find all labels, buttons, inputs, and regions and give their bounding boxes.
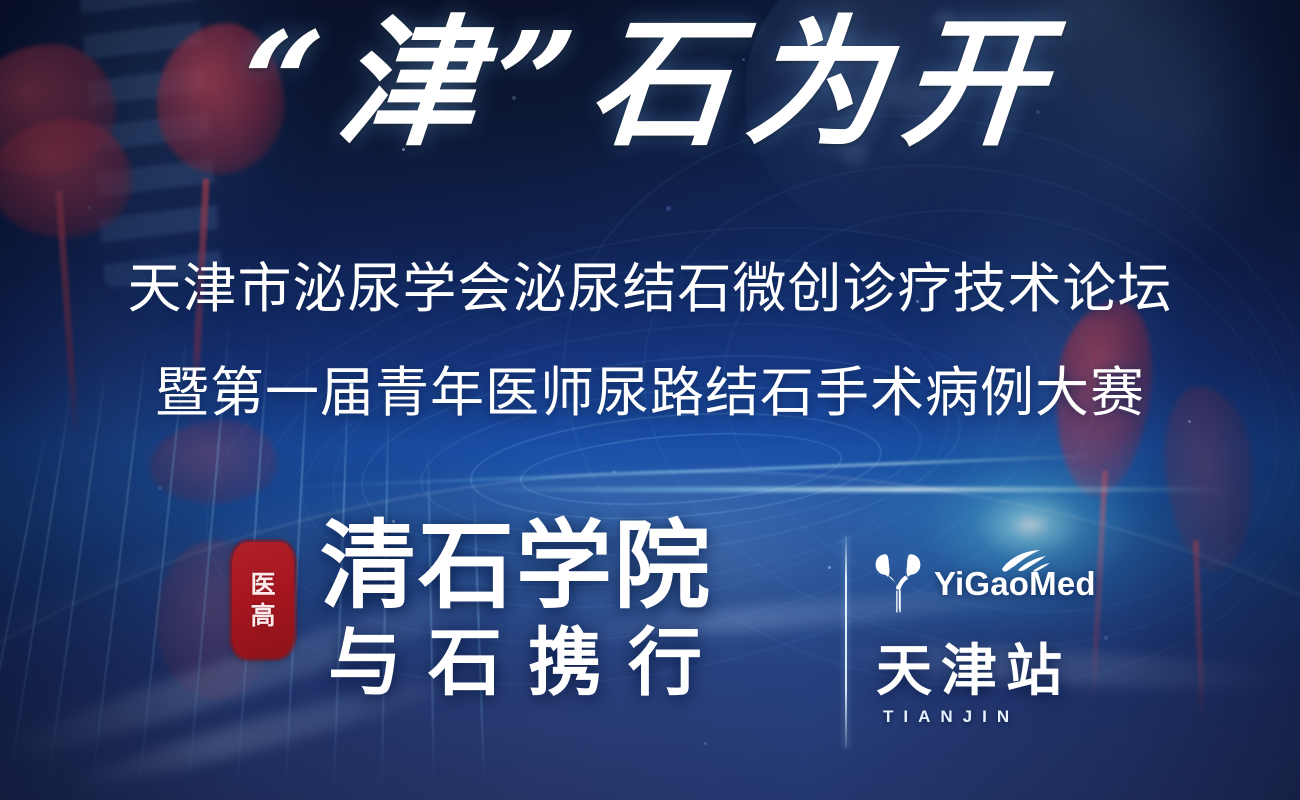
poster-headline: “津”石为开 [0, 14, 1300, 154]
poster-content: “津”石为开 天津市泌尿学会泌尿结石微创诊疗技术论坛 暨第一届青年医师尿路结石手… [0, 0, 1300, 800]
seal-char-bottom: 高 [250, 603, 275, 628]
city-name-cn: 天津站 [876, 642, 1112, 701]
swoosh-icon [1000, 548, 1052, 572]
city-name-en: TIANJIN [883, 707, 1112, 727]
sponsor-and-city-block: YiGaoMed 天津站 TIANJIN [872, 540, 1112, 727]
poster-subtitle-line-1: 天津市泌尿学会泌尿结石微创诊疗技术论坛 [0, 244, 1300, 323]
poster-subtitle-line-2: 暨第一届青年医师尿路结石手术病例大赛 [0, 348, 1300, 427]
seal-char-top: 医 [250, 572, 275, 597]
brand-lockup: 医 高 清石学院 与石携行 [232, 516, 1102, 766]
sponsor-logo: YiGaoMed [872, 540, 1112, 626]
academy-name: 清石学院 [320, 516, 840, 618]
red-seal-stamp: 医 高 [232, 542, 294, 658]
event-poster: “津”石为开 天津市泌尿学会泌尿结石微创诊疗技术论坛 暨第一届青年医师尿路结石手… [0, 0, 1300, 800]
city-block: 天津站 TIANJIN [876, 642, 1112, 727]
academy-block: 清石学院 与石携行 [320, 516, 840, 703]
academy-slogan: 与石携行 [328, 622, 840, 703]
lockup-divider [845, 536, 847, 748]
kidney-pair-icon [872, 552, 924, 614]
